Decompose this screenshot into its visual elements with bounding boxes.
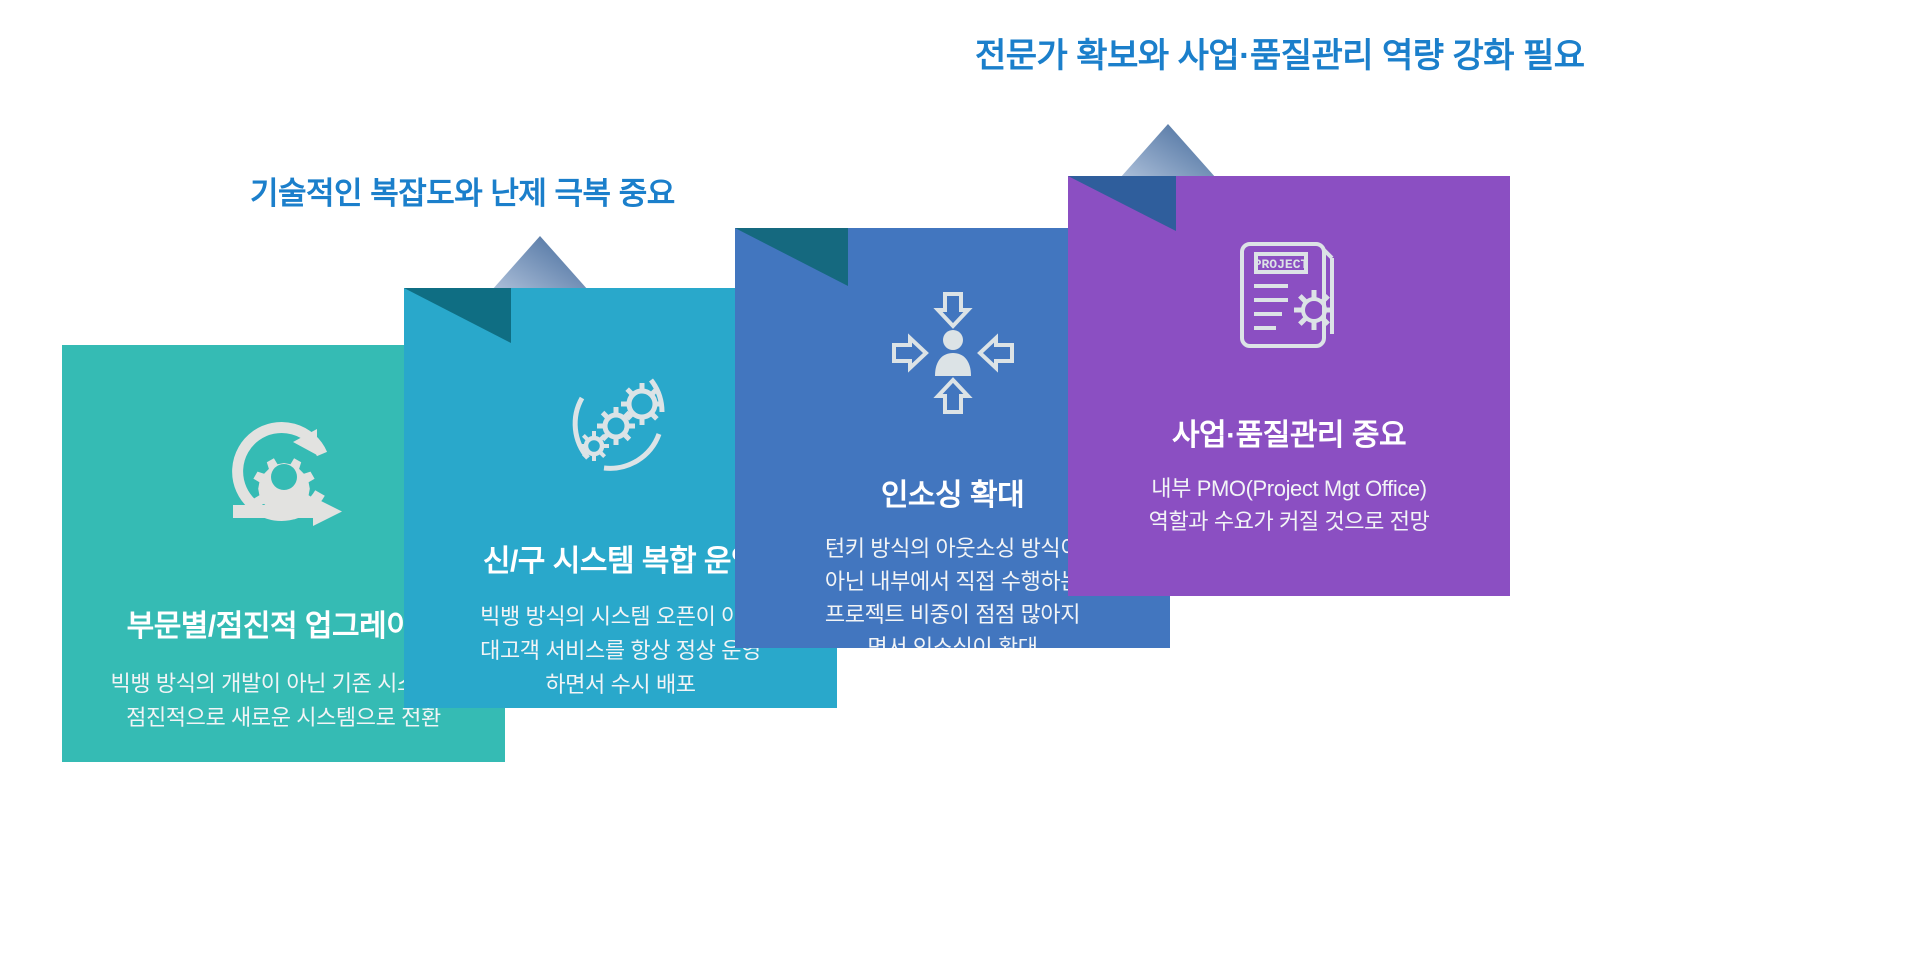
card-corner-fold [1068,176,1176,231]
card-title: 신/구 시스템 복합 운영 [483,536,758,580]
headline-expert-capability: 전문가 확보와 사업·품질관리 역량 강화 필요 [975,28,1585,77]
card-body: 턴키 방식의 아웃소싱 방식이 아닌 내부에서 직접 수행하는 프로젝트 비중이… [825,532,1080,648]
card-corner-fold [404,288,511,343]
card-body: 내부 PMO(Project Mgt Office) 역할과 수요가 커질 것으… [1149,472,1430,538]
card-body: 빅뱅 방식의 시스템 오픈이 아닌 대고객 서비스를 항상 정상 운영 하면서 … [480,600,761,702]
card-title: 인소싱 확대 [881,470,1024,514]
insourcing-person-icon [888,288,1018,418]
gears-circle-icon [556,356,686,486]
card-title: 사업·품질관리 중요 [1172,410,1406,454]
project-document-gear-icon: PROJECT [1224,228,1354,358]
headline-technical-complexity: 기술적인 복잡도와 난제 극복 중요 [250,168,675,213]
step-card-quality-management[interactable]: PROJECT [1068,176,1510,596]
card-corner-fold [735,228,848,286]
project-badge-text: PROJECT [1254,257,1309,272]
cycle-gear-icon [219,409,349,539]
infographic-stage: 전문가 확보와 사업·품질관리 역량 강화 필요 기술적인 복잡도와 난제 극복… [0,0,1920,960]
card-title: 부문별/점진적 업그레이드 [127,601,441,645]
